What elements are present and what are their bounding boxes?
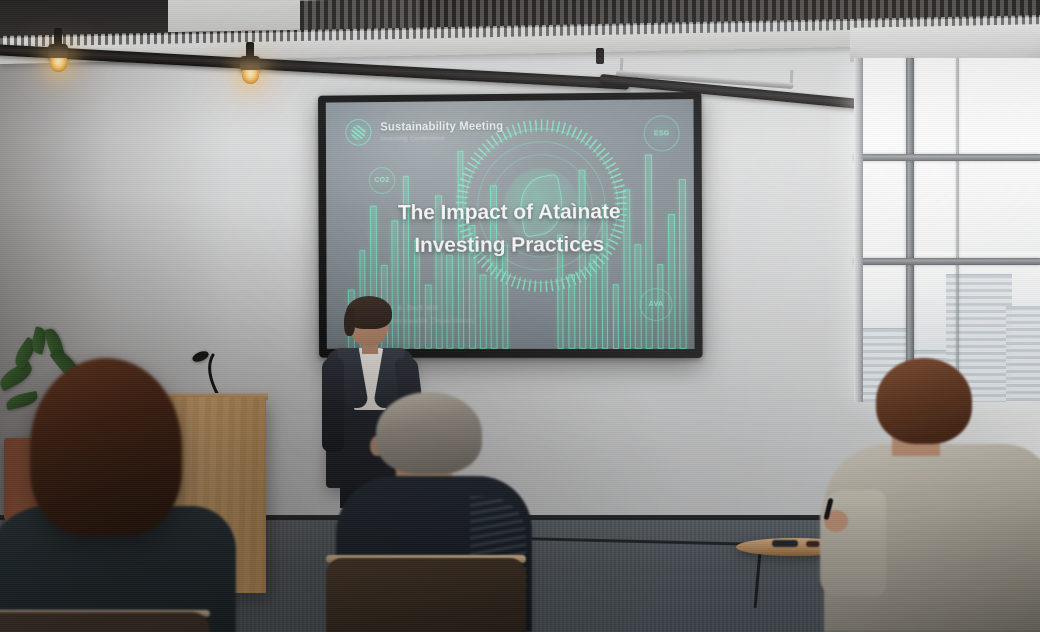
window-glazing-bar — [956, 58, 959, 402]
window-left-frame — [854, 58, 863, 402]
audience-chair-center — [326, 558, 526, 632]
audience-chair-left — [0, 612, 210, 632]
badge-bottom-right: AVA — [640, 288, 673, 321]
chart-bar — [480, 275, 487, 349]
audience-center-hair — [376, 392, 482, 474]
badge-top-right: ESG — [644, 115, 680, 151]
audience-member-center — [322, 392, 542, 632]
window-head-trim — [850, 24, 1040, 62]
floor-to-ceiling-window — [854, 58, 1040, 402]
presenter-hair-side — [344, 308, 355, 336]
audience-member-right — [780, 358, 1040, 632]
track-mount-bracket — [596, 48, 604, 64]
audience-member-left — [0, 358, 220, 632]
slide-title-line-2: Investing Practices — [342, 228, 678, 262]
window-mullion-vertical — [906, 58, 914, 402]
audience-right-hair — [876, 358, 972, 444]
window-mullion-horizontal — [854, 154, 1040, 161]
audience-left-hair — [30, 358, 182, 536]
chart-bar — [612, 284, 619, 349]
window-mullion-horizontal — [854, 258, 1040, 265]
conference-room-scene: Sustainability Meeting Investing Confere… — [0, 0, 1040, 632]
